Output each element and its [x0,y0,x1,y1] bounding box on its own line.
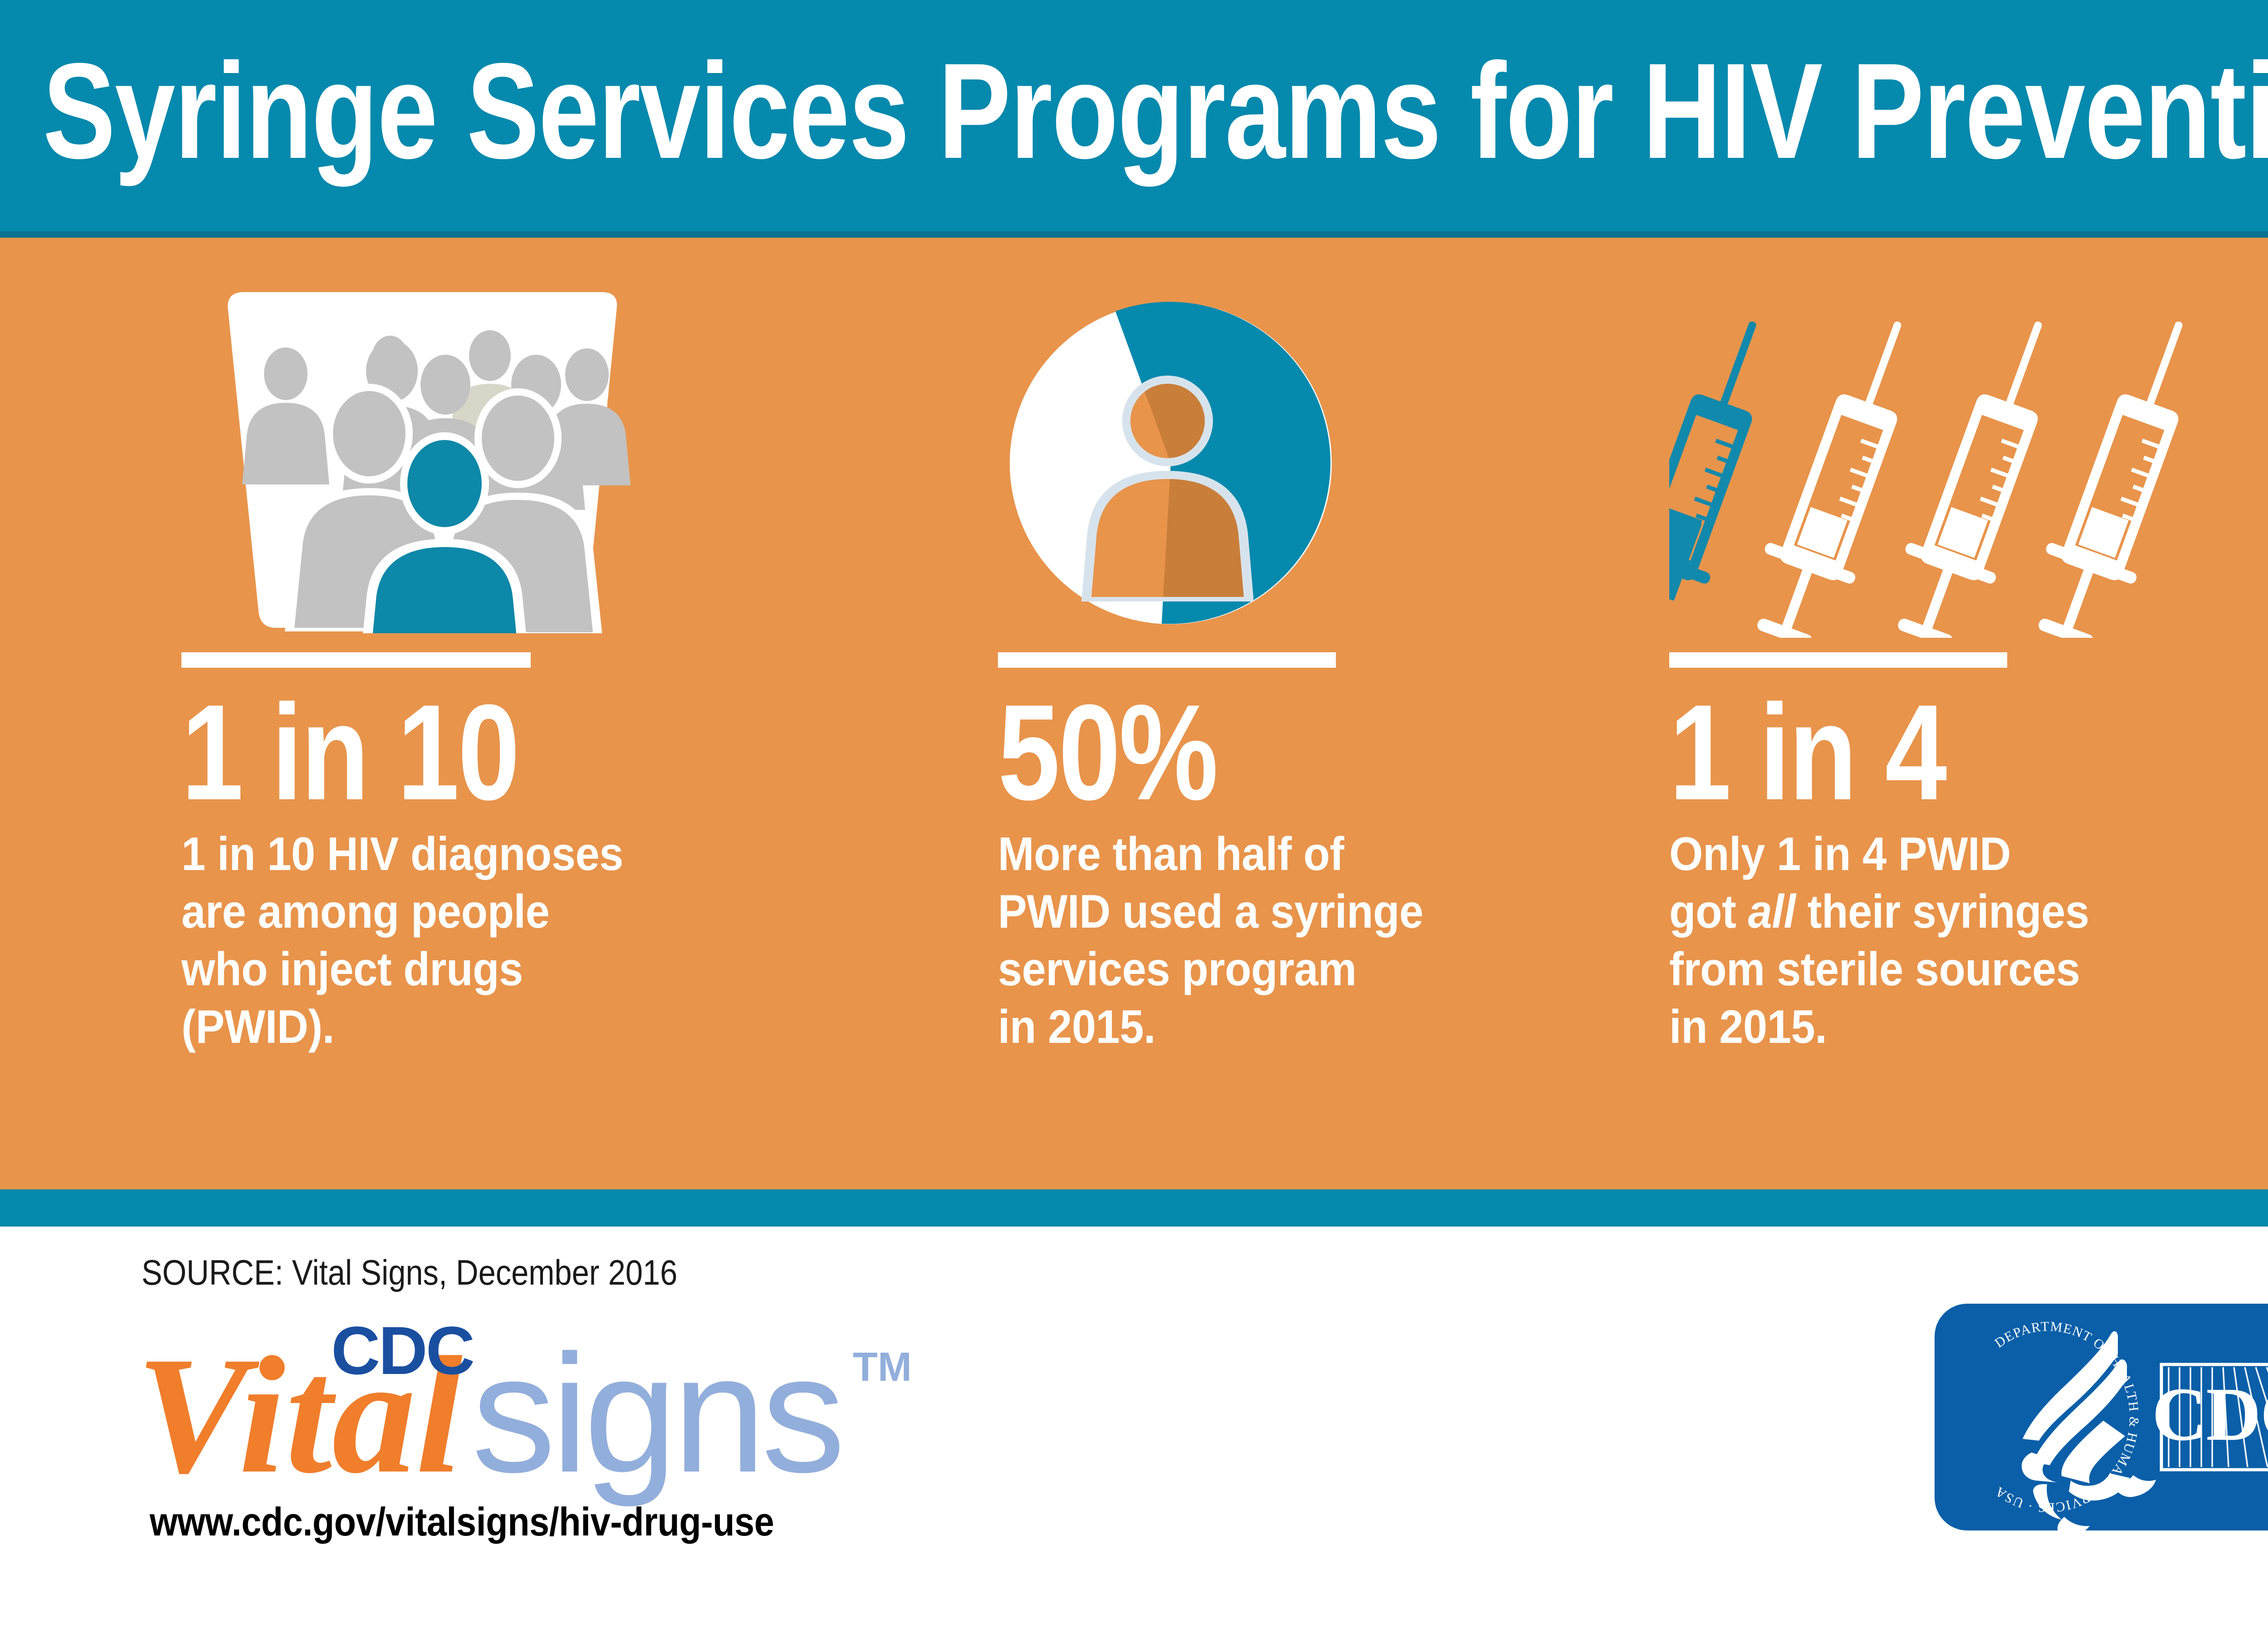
hhs-cdc-seal: DEPARTMENT OF HEALTH & HUMAN SERVICES · … [1935,1304,2268,1530]
stat-text-line: services program [998,943,1356,996]
crowd-of-people-icon [196,288,650,633]
icon-zone-3 [1669,288,2268,647]
stat-columns: 1 in 10 1 in 10 HIV diagnoses are among … [0,288,2268,1191]
signs-wordmark: signs [472,1320,841,1508]
stat-text-2: More than half of PWID used a syringe se… [998,826,1491,1056]
syringes-icon [1669,293,2268,638]
cdc-box-logo: CDC TM [2152,1364,2268,1471]
stat-column-1: 1 in 10 1 in 10 HIV diagnoses are among … [181,288,889,1056]
cdc-vital-signs-logo: Vital CDC signs TM [136,1313,1043,1512]
stat-column-3: 1 in 4 Only 1 in 4 PWID got all their sy… [1669,288,2268,1056]
header-banner: Syringe Services Programs for HIV Preven… [0,0,2268,231]
stat-number-3: 1 in 4 [1669,687,2264,817]
cdc-wordmark: CDC [331,1313,474,1389]
vitalsigns-url[interactable]: www.cdc.gov/vitalsigns/hiv-drug-use [150,1499,774,1545]
stat-text-line: in 2015. [1669,1001,1827,1053]
stat-text-line: 1 in 10 HIV diagnoses [181,828,623,880]
stat-text-line: from sterile sources [1669,943,2080,996]
footer: SOURCE: Vital Signs, December 2016 Vital… [0,1227,2268,1633]
icon-zone-2 [998,288,1706,647]
stat-text-line: More than half of [998,828,1344,880]
cdc-box-text: CDC [2152,1372,2268,1457]
icon-zone-1 [181,288,889,647]
stat-text-line: Only 1 in 4 PWID [1669,828,2011,880]
stat-text-line: PWID used a syringe [998,885,1423,938]
page-title: Syringe Services Programs for HIV Preven… [43,43,2268,189]
stat-text-line: in 2015. [998,1001,1155,1053]
stat-rule-1 [181,652,531,668]
stat-text-1: 1 in 10 HIV diagnoses are among people w… [181,826,674,1056]
stat-rule-2 [998,652,1336,668]
source-note: SOURCE: Vital Signs, December 2016 [142,1252,677,1293]
stat-text-line: got all their syringes [1669,885,2089,938]
stat-column-2: 50% More than half of PWID used a syring… [998,288,1706,1056]
stat-text-3: Only 1 in 4 PWID got all their syringes … [1669,826,2162,1056]
header-underline [0,231,2268,238]
infographic-poster: Syringe Services Programs for HIV Preven… [0,0,2268,1633]
stat-text-line: are among people [181,885,549,938]
teal-divider [0,1189,2268,1227]
pie-chart-person-icon [1005,298,1336,629]
stat-number-2: 50% [998,687,1578,817]
stat-text-line: (PWID). [181,1001,334,1053]
stat-text-line: who inject drugs [181,943,523,996]
stat-number-1: 1 in 10 [181,687,762,817]
trademark-mark: TM [853,1345,912,1390]
stat-rule-3 [1669,652,2007,668]
